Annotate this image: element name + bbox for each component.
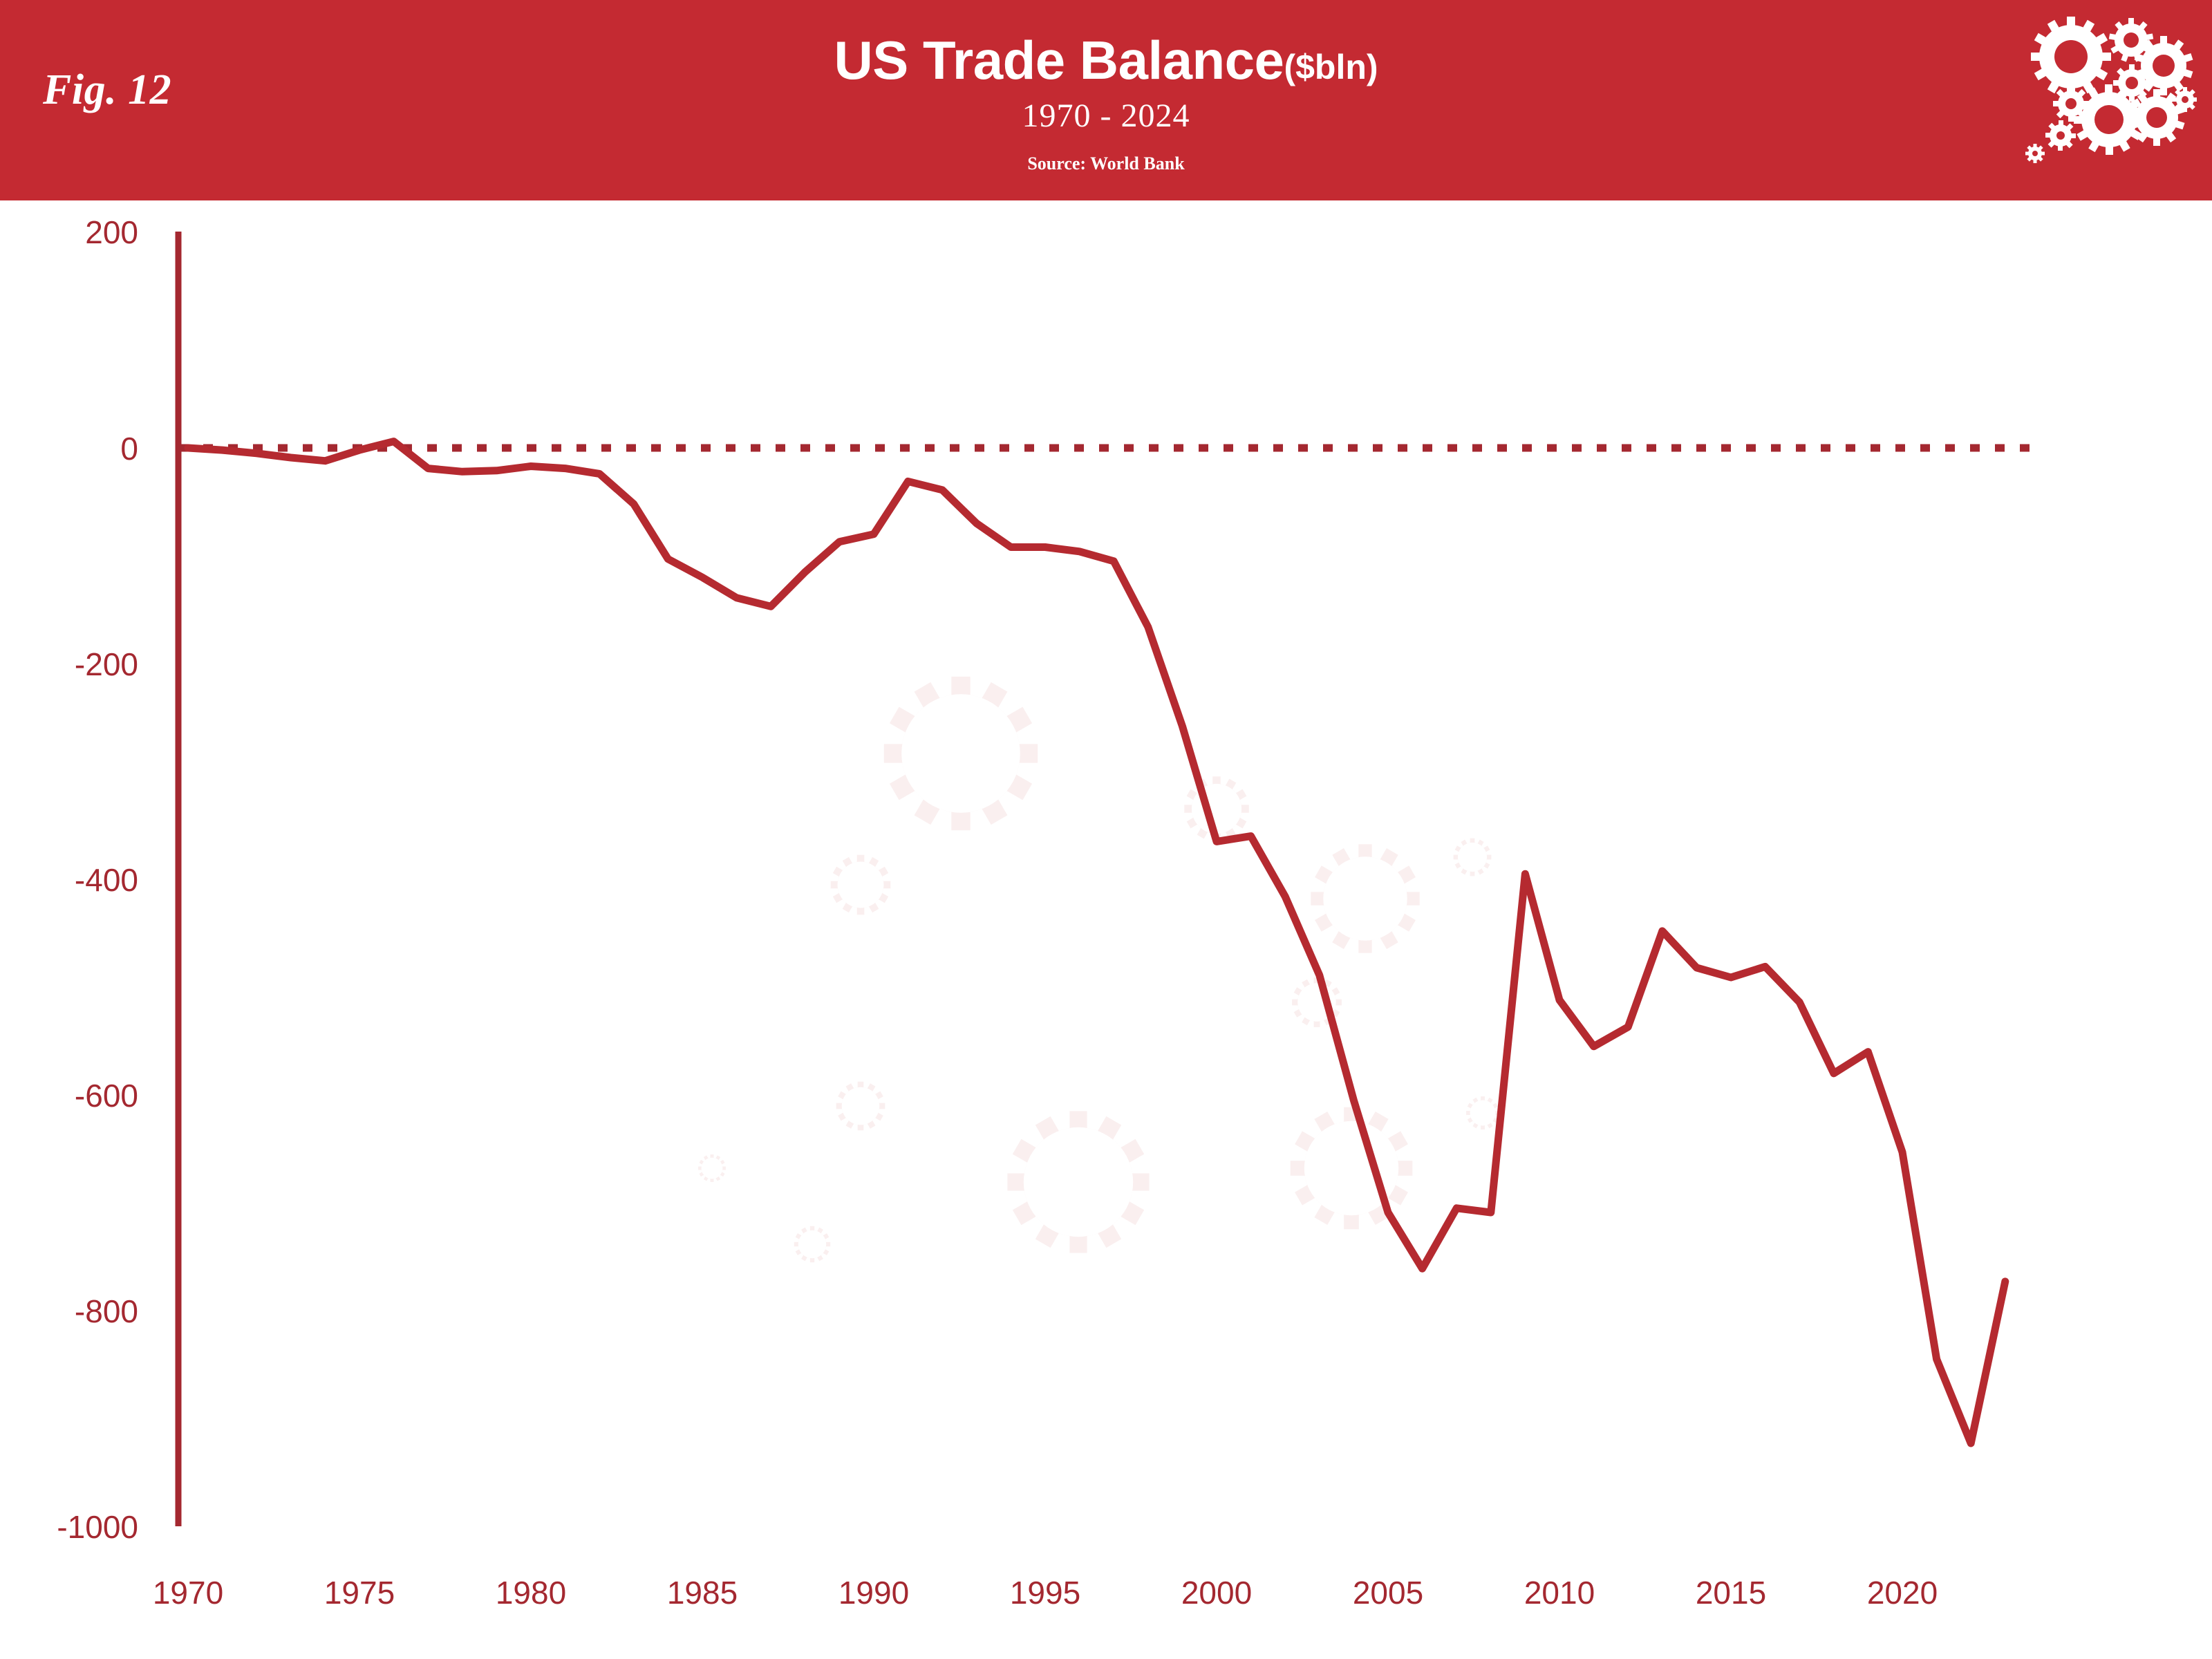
xtick-label-1975: 1975 bbox=[324, 1575, 395, 1611]
xtick-label-2020: 2020 bbox=[1867, 1575, 1938, 1611]
xtick-label-1995: 1995 bbox=[1010, 1575, 1080, 1611]
gears-cluster-icon bbox=[2017, 7, 2197, 173]
title-text: US Trade Balance bbox=[834, 30, 1284, 91]
xtick-label-2000: 2000 bbox=[1181, 1575, 1252, 1611]
xtick-label-2010: 2010 bbox=[1524, 1575, 1595, 1611]
xtick-label-2015: 2015 bbox=[1696, 1575, 1766, 1611]
title-block: US Trade Balance($bln) 1970 - 2024 Sourc… bbox=[0, 33, 2212, 173]
chart-plot-area: 200 0 -200 -400 -600 -800 -1000 1970 197… bbox=[0, 200, 2212, 1659]
ytick-label-minus1000: -1000 bbox=[57, 1509, 138, 1545]
ytick-label-200: 200 bbox=[85, 214, 138, 250]
ytick-label-minus400: -400 bbox=[75, 862, 138, 898]
xtick-label-1990: 1990 bbox=[838, 1575, 909, 1611]
ytick-label-0: 0 bbox=[120, 431, 138, 467]
ytick-label-minus200: -200 bbox=[75, 646, 138, 682]
xtick-label-1985: 1985 bbox=[667, 1575, 738, 1611]
page-title: US Trade Balance($bln) bbox=[0, 33, 2212, 87]
chart-header-banner: Fig. 12 US Trade Balance($bln) 1970 - 20… bbox=[0, 0, 2212, 200]
chart-source: Source: World Bank bbox=[0, 155, 2212, 173]
title-units: ($bln) bbox=[1284, 48, 1378, 86]
trade-balance-line-series bbox=[188, 442, 2005, 1443]
xtick-label-1970: 1970 bbox=[153, 1575, 223, 1611]
ytick-label-minus600: -600 bbox=[75, 1078, 138, 1114]
xtick-label-1980: 1980 bbox=[496, 1575, 566, 1611]
xtick-label-2005: 2005 bbox=[1353, 1575, 1423, 1611]
ytick-label-minus800: -800 bbox=[75, 1293, 138, 1329]
chart-subtitle: 1970 - 2024 bbox=[0, 100, 2212, 133]
